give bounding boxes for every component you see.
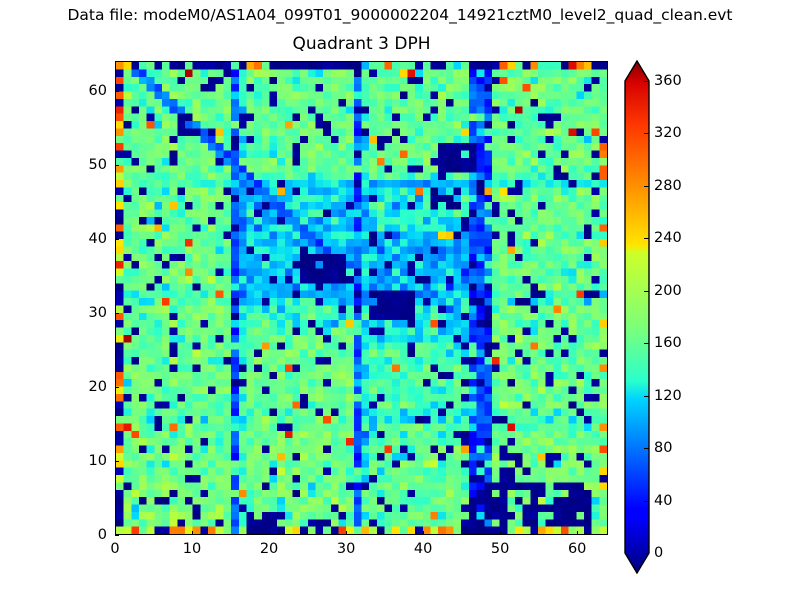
heatmap-image [116, 62, 607, 534]
y-tick-label: 30 [85, 305, 107, 321]
colorbar-tick-mark [644, 133, 649, 134]
colorbar-tick-mark [644, 186, 649, 187]
y-tick-label: 50 [85, 157, 107, 173]
colorbar-tick-label: 0 [654, 545, 663, 561]
colorbar-tick-mark [644, 81, 649, 82]
y-tick-label: 0 [85, 527, 107, 543]
y-tick-label: 20 [85, 379, 107, 395]
colorbar-tick-label: 80 [654, 440, 672, 456]
y-tick-mark [115, 313, 119, 314]
heatmap-axes[interactable] [115, 61, 608, 535]
x-tick-label: 30 [337, 541, 355, 557]
x-tick-label: 40 [414, 541, 432, 557]
x-tick-label: 0 [110, 541, 119, 557]
colorbar-tick-mark [644, 553, 649, 554]
x-tick-label: 10 [183, 541, 201, 557]
y-tick-mark [115, 387, 119, 388]
colorbar-tick-mark [644, 448, 649, 449]
x-tick-mark [423, 531, 424, 535]
y-tick-mark [115, 239, 119, 240]
x-tick-mark [500, 531, 501, 535]
colorbar-tick-label: 200 [654, 283, 682, 299]
colorbar-tick-mark [644, 501, 649, 502]
colorbar-tick-label: 240 [654, 230, 682, 246]
colorbar-tick-label: 40 [654, 493, 672, 509]
colorbar-tick-label: 360 [654, 73, 682, 89]
x-tick-mark [346, 531, 347, 535]
y-tick-mark [115, 535, 119, 536]
y-tick-label: 40 [85, 231, 107, 247]
y-tick-label: 60 [85, 83, 107, 99]
colorbar-tick-mark [644, 291, 649, 292]
x-tick-label: 60 [568, 541, 586, 557]
x-tick-label: 50 [491, 541, 509, 557]
y-tick-mark [115, 91, 119, 92]
colorbar[interactable]: 04080120160200240280320360 [625, 61, 649, 535]
colorbar-tick-mark [644, 396, 649, 397]
colorbar-tick-label: 320 [654, 125, 682, 141]
y-tick-label: 10 [85, 453, 107, 469]
matplotlib-figure: Data file: modeM0/AS1A04_099T01_90000022… [0, 0, 800, 600]
colorbar-tick-mark [644, 343, 649, 344]
page-title: Quadrant 3 DPH [115, 33, 608, 55]
x-tick-mark [577, 531, 578, 535]
x-tick-mark [192, 531, 193, 535]
x-tick-mark [269, 531, 270, 535]
colorbar-tick-label: 120 [654, 388, 682, 404]
figure-suptitle: Data file: modeM0/AS1A04_099T01_90000022… [0, 5, 800, 25]
colorbar-tick-label: 160 [654, 335, 682, 351]
y-tick-mark [115, 461, 119, 462]
colorbar-gradient [624, 60, 650, 574]
x-tick-label: 20 [260, 541, 278, 557]
colorbar-tick-mark [644, 238, 649, 239]
y-tick-mark [115, 165, 119, 166]
colorbar-tick-label: 280 [654, 178, 682, 194]
